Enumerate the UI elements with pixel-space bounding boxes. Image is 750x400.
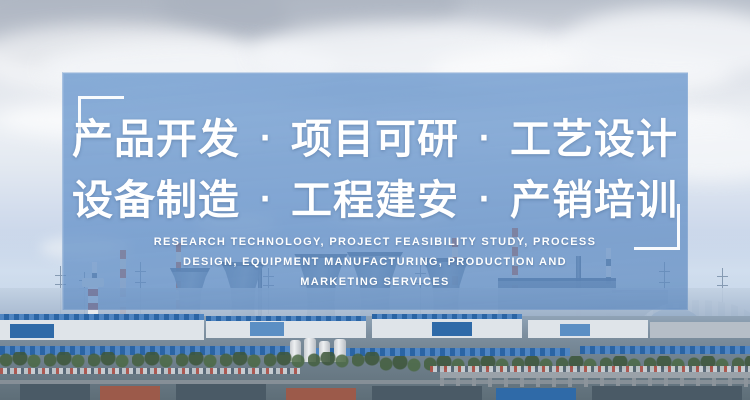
foreground-shed <box>100 386 160 400</box>
headline-segment: 产品开发 <box>72 115 240 163</box>
subtitle: RESEARCH TECHNOLOGY, PROJECT FEASIBILITY… <box>140 232 610 292</box>
headline-line-2: 设备制造 · 工程建安 · 产销培训 <box>62 171 688 232</box>
foreground-shed <box>286 388 356 400</box>
headline-segment: 工艺设计 <box>510 115 678 163</box>
foreground-shed <box>372 386 482 400</box>
road <box>0 380 750 384</box>
blue-building <box>10 324 54 338</box>
foreground-shed <box>176 384 266 400</box>
subtitle-line-1: RESEARCH TECHNOLOGY, PROJECT FEASIBILITY… <box>140 232 610 252</box>
separator-dot: · <box>474 171 494 229</box>
headline-segment: 产销培训 <box>510 176 678 224</box>
factory-hall <box>206 320 366 338</box>
foreground-shed <box>592 386 742 400</box>
blue-building <box>560 324 590 336</box>
headline: 产品开发 · 项目可研 · 工艺设计 设备制造 · 工程建安 · 产销培训 <box>62 110 688 232</box>
headline-segment: 项目可研 <box>291 115 459 163</box>
foreground-shed <box>496 388 576 400</box>
separator-dot: · <box>474 110 494 168</box>
factory-hall <box>650 322 750 338</box>
factory-roof <box>206 316 366 321</box>
parked-cars <box>0 368 300 374</box>
subtitle-line-3: MARKETING SERVICES <box>140 272 610 292</box>
viaduct <box>440 372 750 378</box>
subtitle-line-2: DESIGN, EQUIPMENT MANUFACTURING, PRODUCT… <box>140 252 610 272</box>
separator-dot: · <box>255 110 275 168</box>
blue-building <box>250 322 284 336</box>
headline-line-1: 产品开发 · 项目可研 · 工艺设计 <box>62 110 688 171</box>
headline-segment: 设备制造 <box>72 176 240 224</box>
banner-content: 产品开发 · 项目可研 · 工艺设计 设备制造 · 工程建安 · 产销培训 RE… <box>62 72 688 310</box>
promo-banner: 产品开发 · 项目可研 · 工艺设计 设备制造 · 工程建安 · 产销培训 RE… <box>0 0 750 400</box>
blue-building <box>432 322 472 336</box>
foreground-shed <box>20 384 90 400</box>
factory-roof <box>372 314 522 319</box>
factory-roof <box>0 314 204 320</box>
warehouse-roofs <box>580 346 750 354</box>
separator-dot: · <box>255 171 275 229</box>
headline-segment: 工程建安 <box>291 176 459 224</box>
